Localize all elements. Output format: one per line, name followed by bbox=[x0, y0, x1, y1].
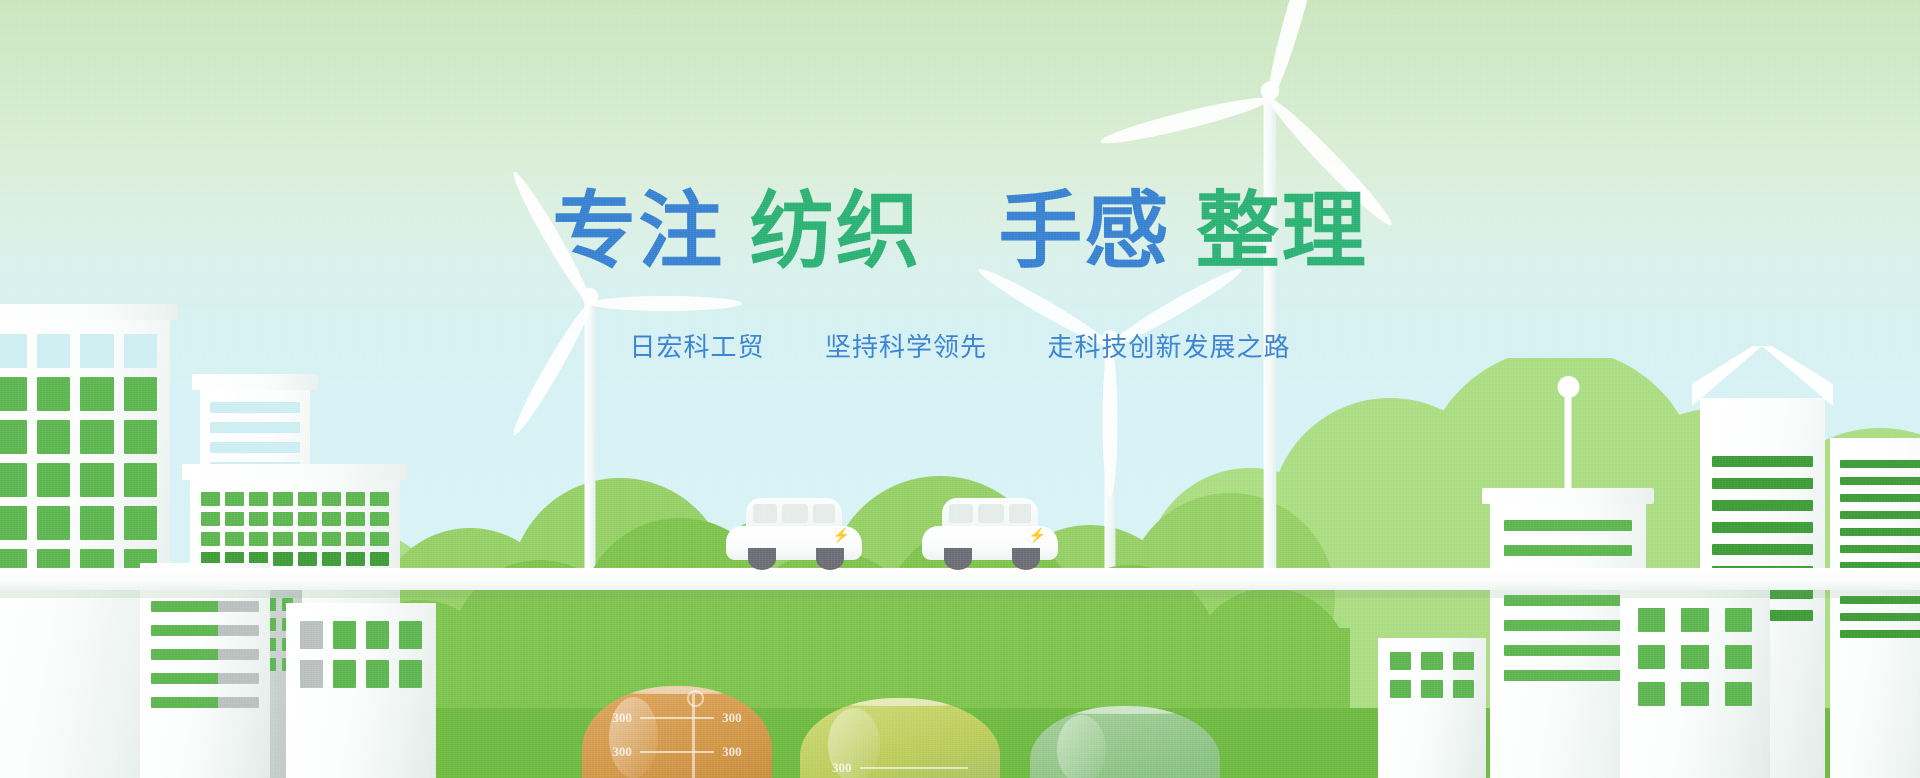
window bbox=[37, 377, 71, 411]
beaker-green bbox=[1030, 706, 1220, 778]
window bbox=[0, 377, 27, 411]
window bbox=[298, 532, 317, 546]
car-window bbox=[1009, 504, 1031, 523]
window bbox=[201, 532, 220, 546]
window bbox=[249, 492, 268, 506]
window bbox=[80, 506, 114, 540]
window-bar bbox=[1712, 456, 1813, 467]
car-window bbox=[782, 504, 808, 523]
headline-segment-3: 手感 bbox=[998, 184, 1170, 278]
window bbox=[346, 492, 365, 506]
window bbox=[1681, 608, 1708, 632]
window-bar bbox=[1840, 630, 1920, 638]
window bbox=[124, 420, 158, 454]
graduation-line bbox=[860, 767, 969, 769]
road-shadow bbox=[0, 589, 1920, 598]
car-window bbox=[813, 504, 835, 523]
car-window bbox=[753, 504, 777, 523]
subtitle-part-2: 坚持科学领先 bbox=[825, 332, 987, 362]
window bbox=[1453, 652, 1474, 670]
graduation-label: 300 bbox=[612, 744, 632, 760]
window bbox=[0, 463, 27, 497]
car-window bbox=[978, 504, 1004, 523]
electric-car-left: ⚡ bbox=[726, 490, 876, 570]
beaker-graduations: 300 bbox=[832, 760, 968, 776]
car-window bbox=[949, 504, 973, 523]
beaker-rim bbox=[812, 698, 988, 706]
window bbox=[399, 621, 422, 649]
window bbox=[273, 532, 292, 546]
beaker-graduations: 300 300 300 300 bbox=[612, 710, 741, 760]
window-bar bbox=[1504, 520, 1632, 531]
road bbox=[0, 568, 1920, 590]
window-bar bbox=[1840, 528, 1920, 536]
subtitle-part-1: 日宏科工贸 bbox=[630, 332, 765, 362]
headline-segment-1: 专注 bbox=[552, 184, 724, 278]
graduation-row: 300 300 bbox=[612, 710, 741, 726]
hero-banner: ⚡ ⚡ 300 300 300 bbox=[0, 0, 1920, 778]
car-wheel bbox=[748, 548, 776, 570]
window-bar bbox=[1712, 500, 1813, 511]
window-bar bbox=[151, 625, 259, 636]
car-wheel bbox=[1012, 548, 1040, 570]
electric-car-right: ⚡ bbox=[922, 490, 1072, 570]
graduation-label: 300 bbox=[722, 744, 742, 760]
window bbox=[249, 532, 268, 546]
graduation-row: 300 300 bbox=[612, 744, 741, 760]
thermometer-icon bbox=[692, 694, 695, 778]
window bbox=[346, 532, 365, 546]
window bbox=[37, 463, 71, 497]
window-bar bbox=[151, 601, 259, 612]
window bbox=[225, 492, 244, 506]
window bbox=[366, 621, 389, 649]
beaker-yellow: 300 bbox=[800, 698, 1000, 778]
window bbox=[1638, 645, 1665, 669]
window bbox=[1725, 608, 1752, 632]
window bbox=[201, 492, 220, 506]
window bbox=[201, 512, 220, 526]
window bbox=[80, 463, 114, 497]
headline-segment-4: 整理 bbox=[1196, 184, 1368, 278]
window bbox=[80, 420, 114, 454]
window bbox=[370, 532, 389, 546]
windmill-blade bbox=[1103, 346, 1118, 498]
beaker-row: 300 300 300 300 300 bbox=[0, 678, 1920, 778]
window bbox=[1638, 608, 1665, 632]
window-bar bbox=[1712, 544, 1813, 555]
window-bar bbox=[1504, 645, 1632, 656]
window bbox=[0, 506, 27, 540]
antenna bbox=[1565, 392, 1572, 502]
window bbox=[124, 463, 158, 497]
window-bar bbox=[1712, 522, 1813, 533]
window bbox=[346, 512, 365, 526]
beaker-orange: 300 300 300 300 bbox=[582, 686, 772, 778]
window bbox=[322, 492, 341, 506]
window-bar bbox=[1840, 613, 1920, 621]
lightning-bolt-icon: ⚡ bbox=[833, 528, 850, 542]
window bbox=[300, 621, 323, 649]
window bbox=[124, 506, 158, 540]
window bbox=[298, 552, 317, 566]
graduation-row: 300 bbox=[832, 760, 968, 776]
window bbox=[273, 492, 292, 506]
window-bar bbox=[210, 422, 300, 433]
beaker-highlight bbox=[1057, 715, 1106, 778]
windmill-blade bbox=[1098, 91, 1272, 150]
window-bar bbox=[1840, 545, 1920, 553]
window bbox=[1390, 652, 1411, 670]
window bbox=[225, 512, 244, 526]
window-bar bbox=[151, 649, 259, 660]
hero-subtitle: 日宏科工贸 坚持科学领先 走科技创新发展之路 bbox=[0, 327, 1920, 364]
window-bar bbox=[1504, 545, 1632, 556]
graduation-label: 300 bbox=[612, 710, 632, 726]
car-wheel bbox=[944, 548, 972, 570]
beaker-rim bbox=[1041, 706, 1208, 714]
graduation-line bbox=[640, 751, 714, 753]
window bbox=[225, 532, 244, 546]
windmill-blade bbox=[1262, 0, 1327, 102]
window bbox=[249, 512, 268, 526]
graduation-label: 300 bbox=[832, 760, 852, 776]
lightning-bolt-icon: ⚡ bbox=[1029, 528, 1046, 542]
window bbox=[333, 621, 356, 649]
window bbox=[0, 420, 27, 454]
hero-headline: 专注 纺织 手感 整理 bbox=[0, 186, 1920, 277]
window bbox=[80, 377, 114, 411]
window bbox=[370, 492, 389, 506]
graduation-label: 300 bbox=[722, 710, 742, 726]
car-wheel bbox=[816, 548, 844, 570]
window-bar bbox=[1504, 620, 1632, 631]
window-bar bbox=[1840, 477, 1920, 485]
window-bar bbox=[210, 442, 300, 453]
window-bar bbox=[1840, 494, 1920, 502]
window-bar bbox=[210, 402, 300, 413]
window bbox=[37, 420, 71, 454]
headline-segment-2: 纺织 bbox=[750, 184, 922, 278]
window-bar bbox=[1712, 478, 1813, 489]
window bbox=[1725, 645, 1752, 669]
window bbox=[1421, 652, 1442, 670]
window bbox=[370, 512, 389, 526]
window bbox=[273, 552, 292, 566]
window bbox=[1681, 645, 1708, 669]
window bbox=[273, 512, 292, 526]
window bbox=[37, 506, 71, 540]
beaker-rim bbox=[593, 686, 760, 694]
hero-text-block: 专注 纺织 手感 整理 日宏科工贸 坚持科学领先 走科技创新发展之路 bbox=[0, 186, 1920, 364]
window bbox=[298, 492, 317, 506]
subtitle-part-3: 走科技创新发展之路 bbox=[1047, 332, 1290, 362]
window bbox=[124, 377, 158, 411]
window bbox=[370, 552, 389, 566]
window bbox=[322, 512, 341, 526]
window-bar bbox=[1840, 460, 1920, 468]
window bbox=[346, 552, 365, 566]
graduation-line bbox=[640, 717, 714, 719]
window bbox=[322, 532, 341, 546]
window bbox=[322, 552, 341, 566]
window-bar bbox=[1840, 511, 1920, 519]
window bbox=[298, 512, 317, 526]
